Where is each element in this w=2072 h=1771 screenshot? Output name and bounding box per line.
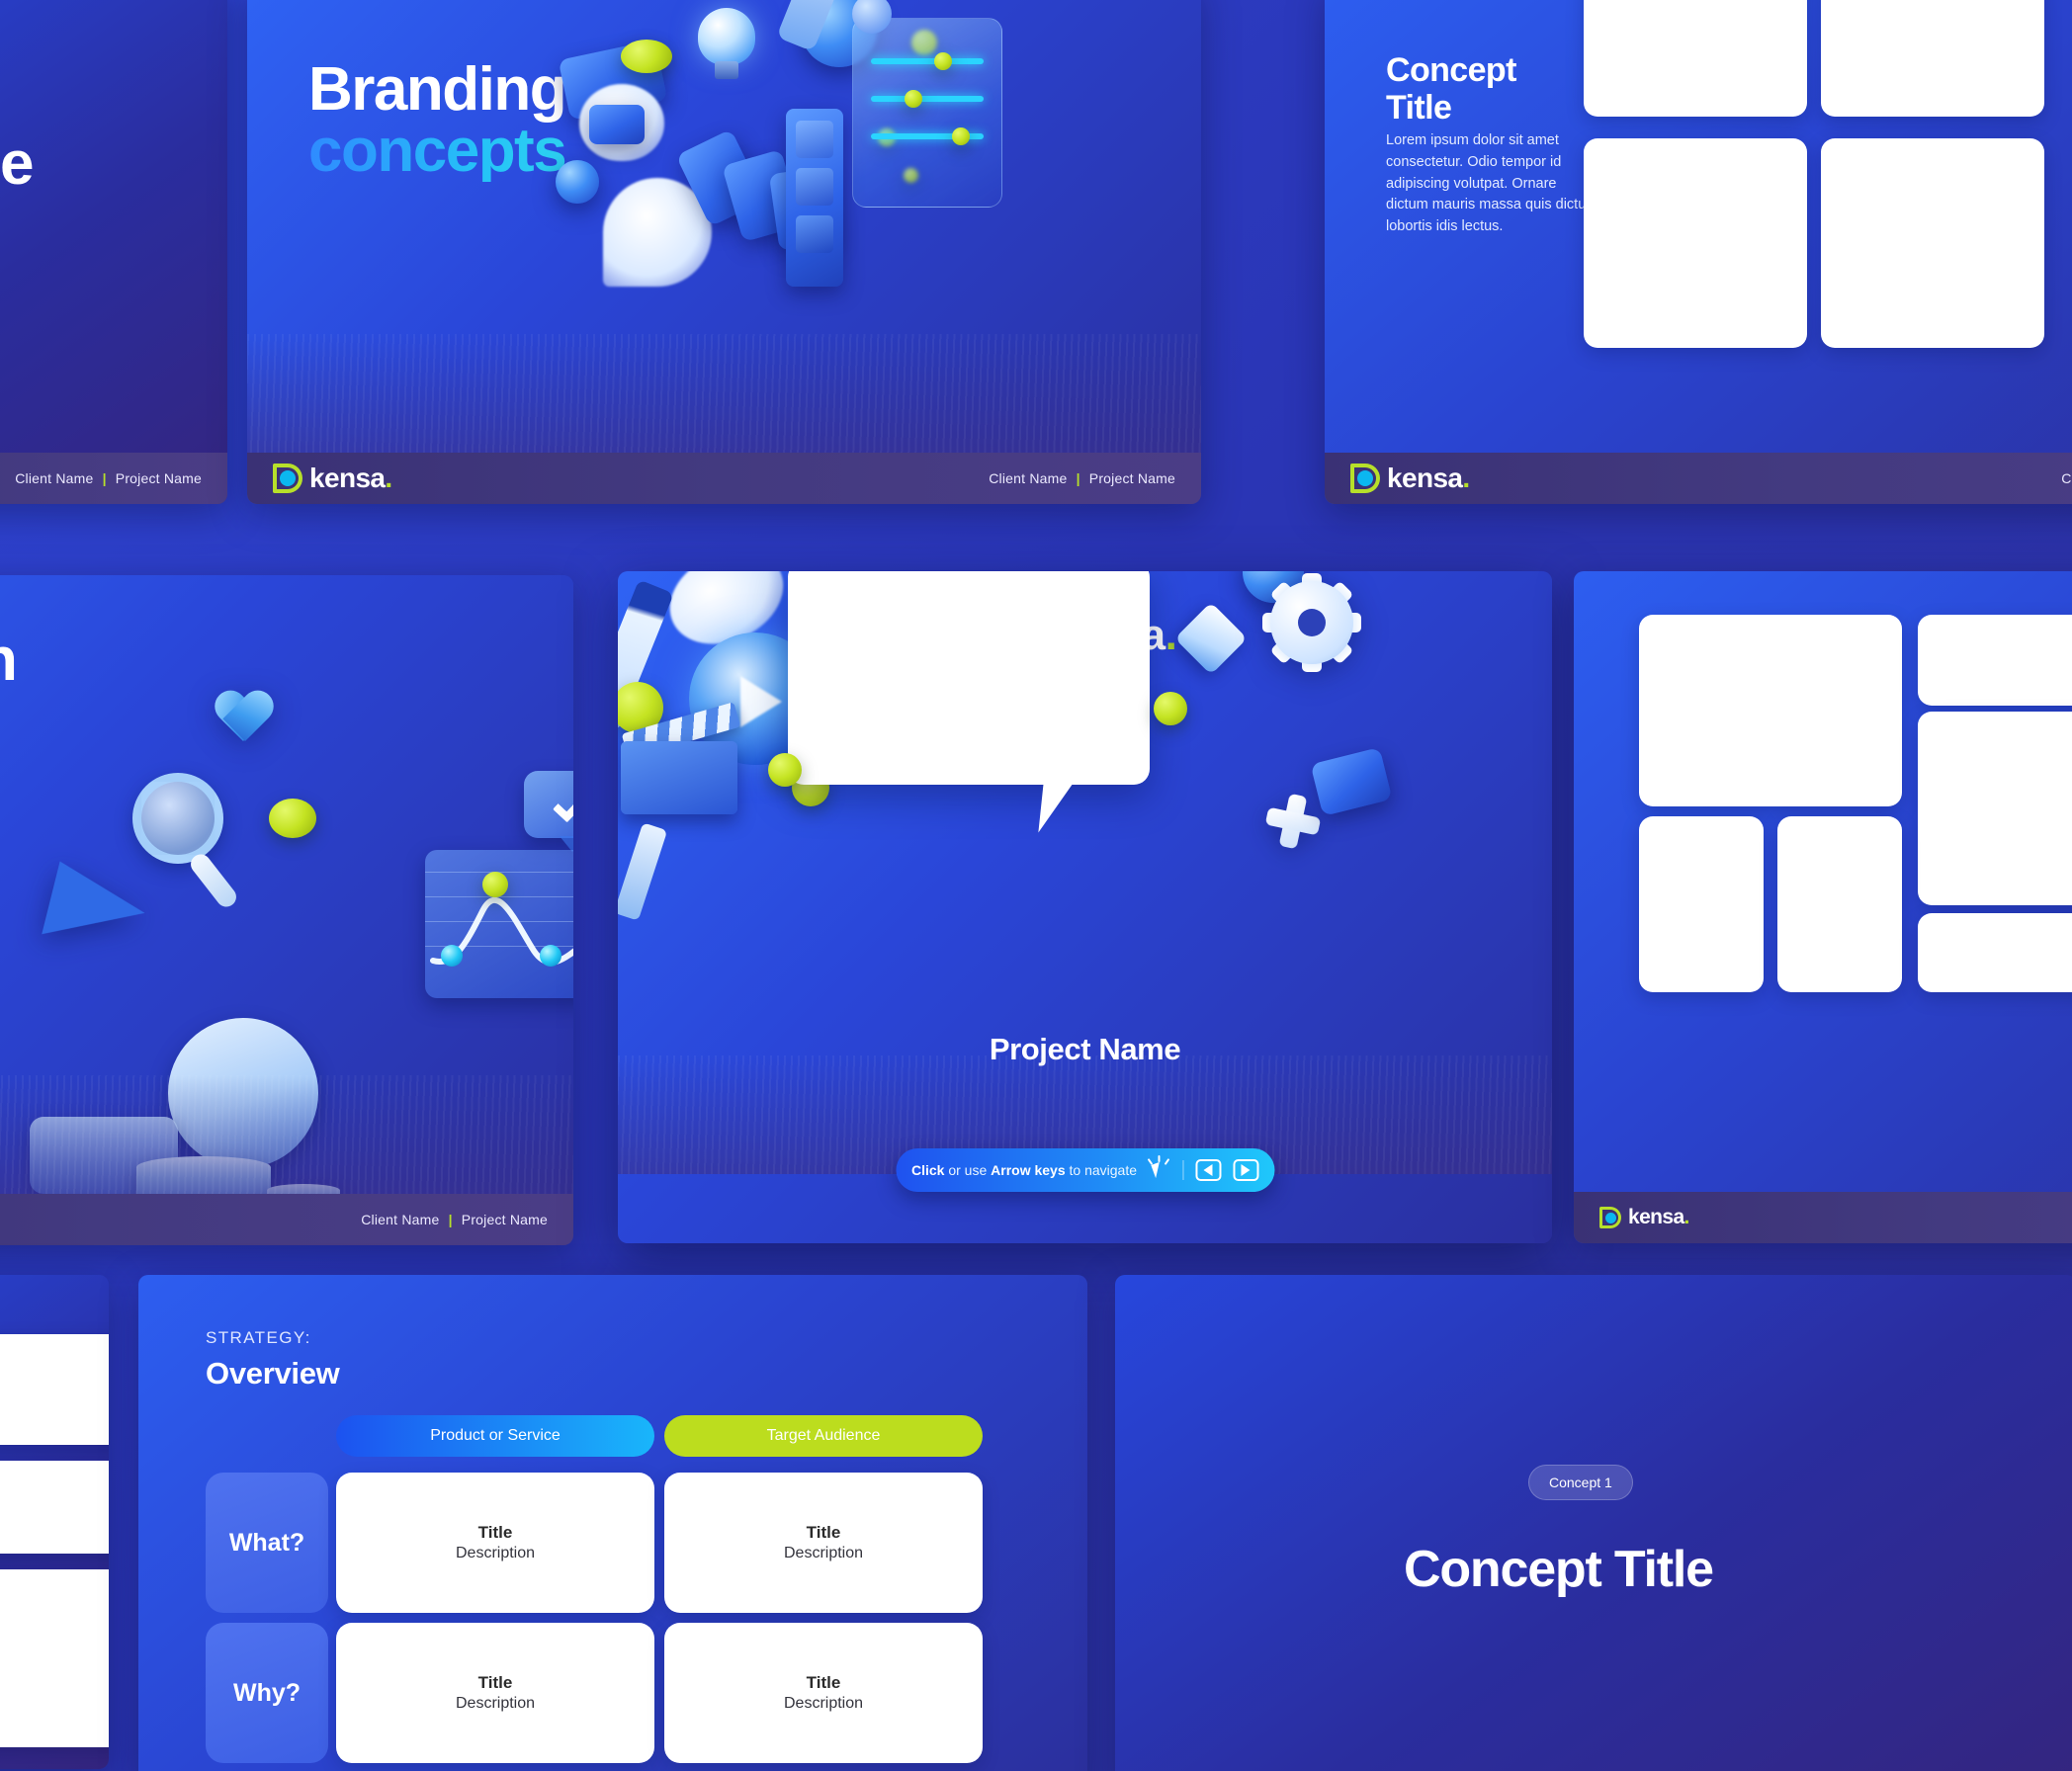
column-header-label: Product or Service: [430, 1427, 561, 1445]
checkmark-bubble-icon: [524, 771, 573, 838]
kensa-logo-word: kensa.: [1387, 463, 1470, 494]
navigation-hint-bar[interactable]: Click or use Arrow keys to navigate: [896, 1148, 1274, 1192]
placeholder-card-c[interactable]: [0, 1569, 109, 1747]
cell-description: Description: [456, 1695, 535, 1713]
bubble-tail: [1038, 780, 1106, 839]
footer-bar: kensa.: [1574, 1192, 2072, 1243]
nav-click-label: Click: [911, 1162, 944, 1178]
row-label-text: What?: [229, 1529, 304, 1558]
slide-concept-big[interactable]: Concept 1 Concept Title: [1115, 1275, 2072, 1771]
chart-card: [425, 850, 573, 998]
nav-divider: [1182, 1160, 1183, 1180]
cell-description: Description: [784, 1545, 863, 1562]
footer-separator: |: [103, 470, 107, 486]
navigation-hint-text: Click or use Arrow keys to navigate: [911, 1162, 1137, 1178]
cursor-click-icon: [1149, 1158, 1170, 1182]
column-header-label: Target Audience: [767, 1427, 881, 1445]
footer-client: Client Name: [361, 1212, 439, 1227]
lime-sphere: [269, 799, 316, 838]
footer-meta: Client Name | Project Name: [2061, 470, 2072, 486]
concept-title-line1: Concept: [1386, 51, 1516, 89]
floor-grid: [0, 1075, 573, 1194]
footer-bar: kensa. Client Name | Project Name: [247, 453, 1201, 504]
footer-meta: Client Name | Project Name: [989, 470, 1175, 486]
nav-tail-label: to navigate: [1066, 1162, 1137, 1178]
concept-title-line2: Title: [1386, 89, 1451, 126]
placeholder-card-b[interactable]: [0, 1461, 109, 1554]
lime-sphere-bottom: [768, 753, 802, 787]
slide-deck-canvas: e Client Name | Project Name Branding co…: [0, 0, 2072, 1771]
footer-meta: Client Name | Project Name: [15, 470, 202, 486]
slide-concept-title-grid[interactable]: Concept Title Lorem ipsum dolor sit amet…: [1325, 0, 2072, 504]
slider-panel: [852, 18, 1002, 208]
floor-grid: [247, 334, 1201, 453]
kensa-logo[interactable]: kensa.: [1350, 463, 1470, 494]
concept-badge[interactable]: Concept 1: [1528, 1465, 1633, 1500]
gear-icon: [1270, 581, 1353, 664]
kensa-logo-word: kensa.: [309, 463, 392, 494]
swatch-chip-3: [796, 215, 833, 253]
swatch-chip-2: [796, 168, 833, 206]
moodboard-card-1[interactable]: [1639, 615, 1902, 806]
footer-meta: Client Name | Project Name: [361, 1212, 548, 1227]
footer-bar: Client Name | Project Name: [0, 1194, 573, 1245]
prev-slide-button[interactable]: [1195, 1159, 1221, 1181]
row-label-what: What?: [206, 1473, 328, 1613]
magnifier-icon: [132, 773, 223, 864]
concept-title-heading: Concept Title: [1386, 51, 1516, 126]
slide-bottom-left-partial[interactable]: [0, 1275, 109, 1769]
kensa-logo-mark: [273, 464, 302, 493]
decor-toggle: [589, 105, 645, 144]
cell-title: Title: [807, 1673, 841, 1693]
cell-title: Title: [478, 1523, 513, 1543]
content-placeholder-bubble[interactable]: [788, 571, 1150, 785]
footer-project: Project Name: [462, 1212, 548, 1227]
kensa-logo[interactable]: kensa.: [1599, 1206, 1689, 1229]
cell-title: Title: [478, 1673, 513, 1693]
moodboard-card-5[interactable]: [1777, 816, 1902, 992]
branding-title: Branding concepts.: [308, 59, 581, 182]
nav-arrowkeys-label: Arrow keys: [991, 1162, 1065, 1178]
kensa-logo[interactable]: kensa.: [273, 463, 392, 494]
strategy-cell-why-audience[interactable]: Title Description: [664, 1623, 983, 1763]
concept-title-body: Lorem ipsum dolor sit amet consectetur. …: [1386, 130, 1598, 238]
footer-bar: kensa. Client Name | Project Name: [1325, 453, 2072, 504]
image-placeholder-1[interactable]: [1584, 0, 1807, 117]
strategy-cell-what-audience[interactable]: Title Description: [664, 1473, 983, 1613]
decor-pen-lower: [618, 822, 667, 920]
footer-project: Project Name: [1089, 470, 1175, 486]
column-header-product-or-service[interactable]: Product or Service: [336, 1415, 654, 1457]
decor-rect-right: [1311, 747, 1393, 816]
row-label-text: Why?: [233, 1679, 301, 1708]
lightbulb-icon: [698, 8, 755, 79]
plus-icon: [1261, 790, 1325, 853]
left-partial-title-fragment: e: [0, 128, 34, 199]
decor-lime-sphere: [621, 40, 672, 73]
moodboard-card-2[interactable]: [1918, 615, 2072, 706]
slide-illustration-left[interactable]: n: [0, 575, 573, 1245]
slide-strategy-overview[interactable]: STRATEGY: Overview Product or Service Ta…: [138, 1275, 1087, 1771]
image-placeholder-4[interactable]: [1821, 138, 2044, 348]
footer-separator: |: [1077, 470, 1080, 486]
decor-small-sphere: [556, 160, 599, 204]
cell-title: Title: [807, 1523, 841, 1543]
strategy-title: Overview: [206, 1356, 339, 1391]
clapperboard-body: [621, 741, 737, 814]
paper-plane-icon: [42, 862, 152, 958]
branding-title-line1: Branding: [308, 59, 581, 121]
slide-left-partial[interactable]: e Client Name | Project Name: [0, 0, 227, 504]
footer-client: Client Name: [989, 470, 1067, 486]
heart-icon: [214, 692, 275, 747]
thumbs-up-icon: [1144, 662, 1286, 801]
column-header-target-audience[interactable]: Target Audience: [664, 1415, 983, 1457]
moodboard-card-3[interactable]: [1918, 712, 2072, 905]
footer-separator: |: [449, 1212, 453, 1227]
slide-cover-active[interactable]: kensa.: [618, 571, 1552, 1243]
swatch-chip-1: [796, 121, 833, 158]
slide-branding-concepts[interactable]: Branding concepts.: [247, 0, 1201, 504]
moodboard-card-4[interactable]: [1639, 816, 1764, 992]
footer-project: Project Name: [116, 470, 202, 486]
strategy-cell-what-product[interactable]: Title Description: [336, 1473, 654, 1613]
strategy-kicker: STRATEGY:: [206, 1328, 311, 1348]
strategy-cell-why-product[interactable]: Title Description: [336, 1623, 654, 1763]
kensa-logo-word: kensa.: [1628, 1206, 1689, 1229]
row-label-why: Why?: [206, 1623, 328, 1763]
placeholder-card-a[interactable]: [0, 1334, 109, 1445]
cell-description: Description: [784, 1695, 863, 1713]
kensa-logo-mark: [1599, 1207, 1621, 1228]
concept-big-title: Concept Title: [1404, 1540, 1713, 1599]
footer-client: Client Name: [15, 470, 93, 486]
illustration-title-fragment: n: [0, 625, 18, 695]
cell-description: Description: [456, 1545, 535, 1562]
footer-bar: Client Name | Project Name: [0, 453, 227, 504]
footer-client: Client Name: [2061, 470, 2072, 486]
image-placeholder-2[interactable]: [1821, 0, 2044, 117]
kensa-logo-mark: [1350, 464, 1380, 493]
moodboard-card-6[interactable]: [1918, 913, 2072, 992]
next-slide-button[interactable]: [1233, 1159, 1258, 1181]
slide-moodboard-grid[interactable]: kensa.: [1574, 571, 2072, 1243]
branding-title-line2: concepts.: [308, 121, 581, 182]
nav-mid-label: or use: [944, 1162, 991, 1178]
image-placeholder-3[interactable]: [1584, 138, 1807, 348]
